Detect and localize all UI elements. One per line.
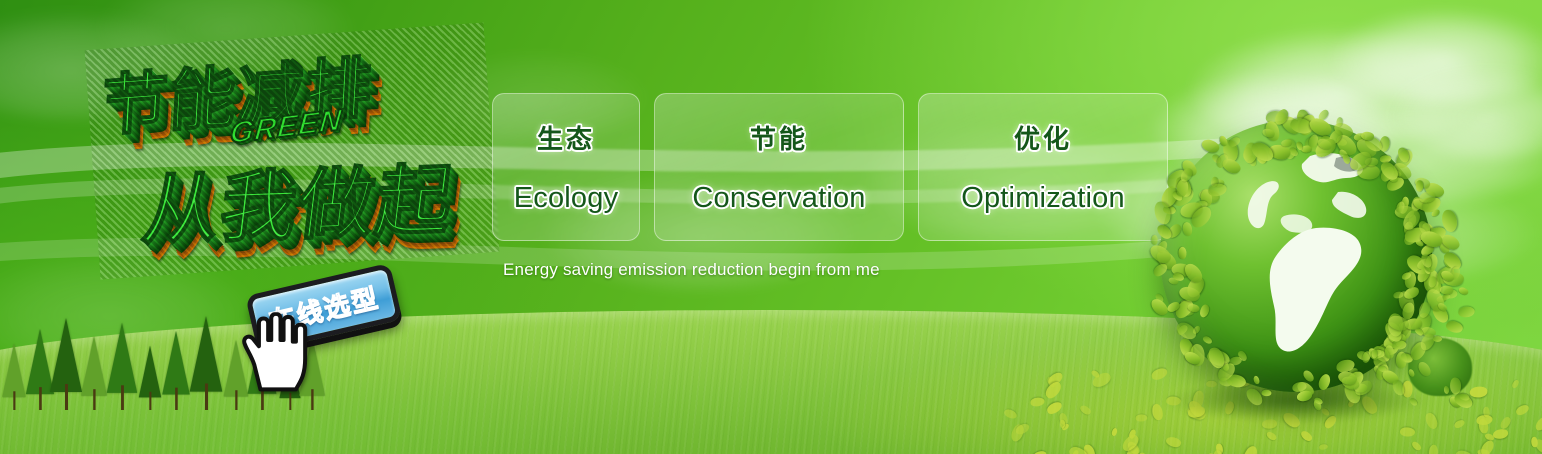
globe-sphere — [1160, 120, 1432, 392]
hand-pointer-icon — [240, 312, 314, 390]
feature-card-optimization[interactable]: 优化 Optimization — [918, 93, 1168, 241]
feature-card-title-cn: 生态 — [537, 119, 595, 156]
feature-card-list: 生态 Ecology 节能 Conservation 优化 Optimizati… — [492, 93, 1168, 241]
feature-card-title-en: Optimization — [961, 182, 1125, 215]
headline-line-bottom: 从我做起 — [138, 138, 462, 260]
eco-promo-banner: 节能减排 GREEN 从我做起 在线选型 生态 Ecology 节能 Conse… — [0, 0, 1542, 454]
feature-card-conservation[interactable]: 节能 Conservation — [654, 93, 904, 241]
feature-card-title-cn: 优化 — [1014, 119, 1072, 156]
banner-tagline: Energy saving emission reduction begin f… — [503, 260, 880, 280]
feature-card-title-cn: 节能 — [750, 119, 808, 156]
green-globe-icon — [1140, 112, 1460, 442]
headline-3d: 节能减排 GREEN 从我做起 — [84, 22, 499, 279]
feature-card-ecology[interactable]: 生态 Ecology — [492, 93, 640, 241]
feature-card-title-en: Ecology — [514, 182, 619, 215]
continents-shape — [1160, 120, 1432, 392]
feature-card-title-en: Conservation — [692, 182, 865, 215]
